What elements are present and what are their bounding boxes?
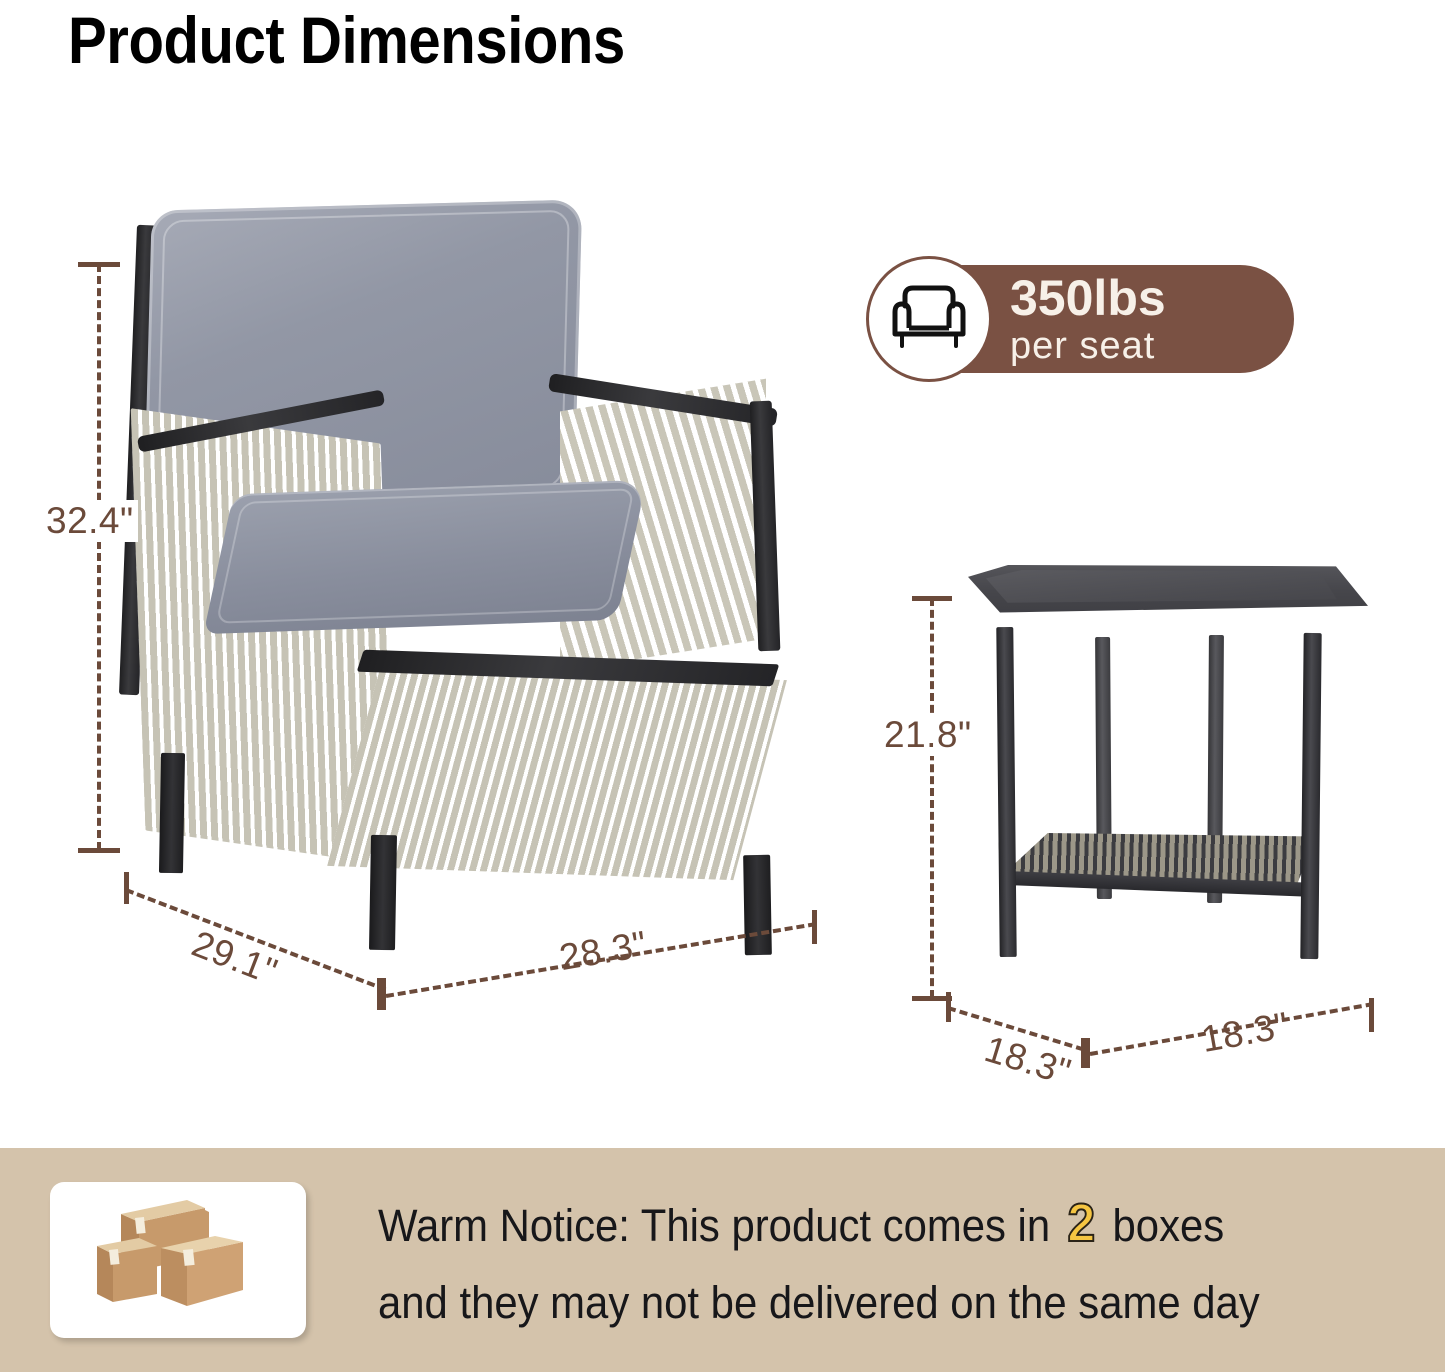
- armchair-icon: [891, 284, 967, 354]
- chair-width-cap-right: [812, 910, 817, 944]
- table-leg-front-right: [1300, 633, 1321, 959]
- side-table-product-image: [960, 565, 1380, 1015]
- badge-text-group: 350lbs per seat: [1010, 273, 1166, 365]
- notice-line-1-after: boxes: [1113, 1200, 1225, 1251]
- badge-weight-caption: per seat: [1010, 327, 1166, 365]
- notice-line-1-before: Warm Notice: This product comes in: [378, 1200, 1050, 1251]
- chair-leg-front-left: [369, 835, 397, 950]
- chair-leg-back-left: [159, 753, 185, 873]
- chair-seat-cushion: [203, 480, 646, 634]
- chair-leg-front-right: [743, 855, 772, 955]
- chair-product-image: [108, 195, 848, 955]
- table-leg-front-left: [996, 627, 1016, 957]
- notice-line-2: and they may not be delivered on the sam…: [378, 1267, 1260, 1340]
- notice-image-card: [50, 1182, 306, 1338]
- table-width-cap-right: [1369, 998, 1374, 1032]
- illustration-stage: 32.4" 29.1" 28.3" 21.8" 18.3" 18.3": [0, 0, 1445, 1148]
- weight-capacity-badge: 350lbs per seat: [866, 256, 1166, 382]
- notice-text: Warm Notice: This product comes in 2 box…: [378, 1180, 1260, 1340]
- cardboard-boxes-icon: [83, 1198, 273, 1322]
- notice-line-1: Warm Notice: This product comes in 2 box…: [378, 1180, 1260, 1267]
- badge-icon-circle: [866, 256, 992, 382]
- chair-height-line: [97, 264, 101, 850]
- chair-height-label: 32.4": [42, 500, 138, 542]
- warm-notice-banner: Warm Notice: This product comes in 2 box…: [0, 1148, 1445, 1372]
- notice-box-count: 2: [1062, 1193, 1101, 1253]
- badge-weight-value: 350lbs: [1010, 273, 1166, 323]
- table-depth-label: 18.3": [976, 1027, 1080, 1095]
- table-height-label: 21.8": [880, 714, 976, 756]
- table-height-line: [930, 598, 934, 998]
- chair-height-cap-bottom: [78, 848, 120, 853]
